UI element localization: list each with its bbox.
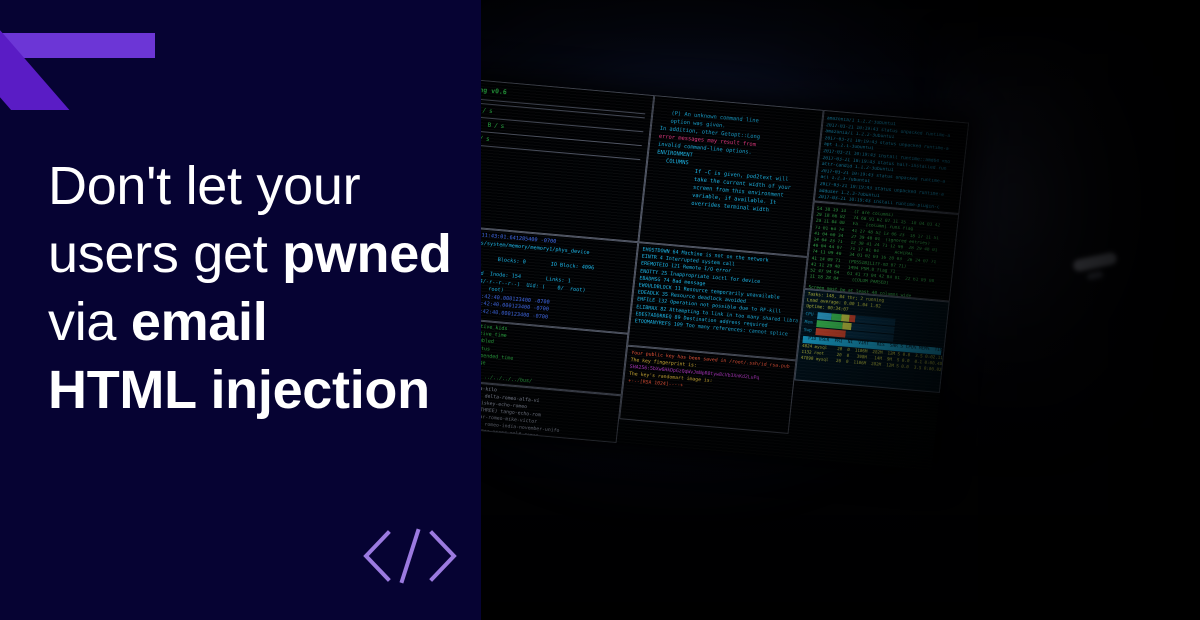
terminal-pane-ssh-keygen: Your public key has been saved in /root/… (619, 346, 796, 434)
headline-emphasis: pwned (282, 224, 452, 284)
monitor-screen: bwm-ng v0.6 0 B/s 100 B/s 5 B/s (P) An u… (481, 78, 969, 471)
blog-banner: bwm-ng v0.6 0 B/s 100 B/s 5 B/s (P) An u… (0, 0, 1200, 620)
logo-horizontal-bar (0, 33, 155, 58)
monitor: bwm-ng v0.6 0 B/s 100 B/s 5 B/s (P) An u… (481, 78, 969, 471)
htop-bar-label: Swp (803, 327, 816, 335)
terminal-pane-manpage: (P) An unknown command line option was g… (638, 95, 823, 257)
terminal-pane-htop: Tasks: 148, 84 thr; 2 running Load avera… (794, 289, 949, 393)
bar-segment (815, 328, 846, 338)
hero-photo: bwm-ng v0.6 0 B/s 100 B/s 5 B/s (P) An u… (481, 0, 1200, 620)
bar-segment (817, 312, 832, 320)
terminal-pane-bandwidth: bwm-ng v0.6 0 B/s 100 B/s 5 B/s (481, 78, 654, 242)
terminal-pane-aptlog: amazonia/1 1.2.2-3ubuntu1 2017-03-21 10:… (814, 110, 969, 214)
terminal-pane-stat: 2017-03-21 11:43:01.641285400 -0700 /sys… (481, 225, 638, 334)
headline-emphasis: HTML injection (48, 360, 430, 420)
headline-text: via (48, 292, 131, 352)
headline-text: users get (48, 224, 282, 284)
brand-logo[interactable] (0, 0, 170, 110)
left-title-panel: Don't let your users get pwned via email… (0, 0, 481, 620)
chair-silhouette (936, 30, 1196, 460)
headline-line-2: users get pwned (48, 220, 478, 288)
terminal-pane-numbers: 54 38 19 14 (T are columns) 29 18 66 82 … (804, 201, 959, 301)
code-brackets-icon (362, 527, 458, 585)
headline-emphasis: email (131, 292, 268, 352)
headline-line-4: HTML injection (48, 356, 478, 424)
forward-slash (402, 531, 418, 581)
terminal-pane-errno: EHOSTDOWN 64 Machine is not on the netwo… (627, 242, 808, 360)
headline-text: Don't let your (48, 156, 360, 216)
headline-line-1: Don't let your (48, 152, 478, 220)
page-title: Don't let your users get pwned via email… (48, 152, 478, 424)
htop-bar-label: Mem (804, 319, 817, 327)
headline-line-3: via email (48, 288, 478, 356)
htop-bar-label: CPU (805, 311, 818, 319)
right-angle-bracket (432, 533, 454, 579)
left-angle-bracket (366, 533, 388, 579)
